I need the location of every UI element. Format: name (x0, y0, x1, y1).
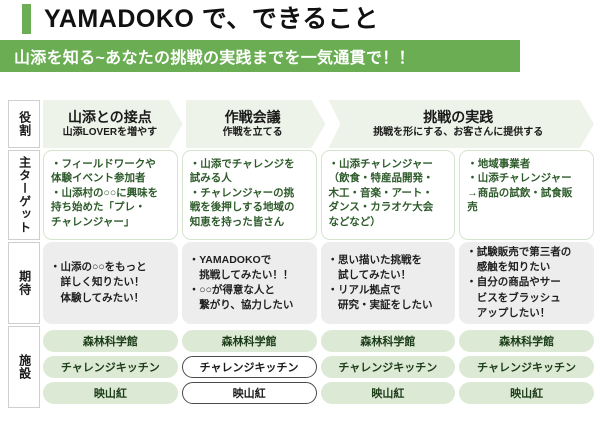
facility-cells: 森林科学館 チャレンジキッチン 映山紅 森林科学館 チャレンジキッチン 映山紅 … (43, 326, 594, 408)
role-chevron-2-title: 作戦会議 (225, 109, 281, 125)
row-label-role: 役割 (8, 100, 40, 148)
row-label-target-text: 主ターゲット (17, 156, 30, 234)
facility-pill-stack: 森林科学館 チャレンジキッチン 映山紅 (43, 326, 178, 408)
facility-pill[interactable]: チャレンジキッチン (321, 356, 456, 378)
role-chevron-3: 挑戦の実践 挑戦を形にする、お客さんに提供する (329, 100, 595, 148)
title-text: YAMADOKO で、できること (44, 7, 379, 32)
row-label-role-text: 役割 (17, 111, 30, 137)
target-cell-1: ・フィールドワークや 体験イベント参加者 ・山添村の○○に興味を 持ち始めた「プ… (43, 150, 178, 240)
facility-pill[interactable]: チャレンジキッチン (43, 356, 178, 378)
target-box: ・山添チャレンジャー （飲食・特産品開発・ 木工・音楽・アート・ ダンス・カラオ… (321, 150, 456, 240)
facility-pill-stack: 森林科学館 チャレンジキッチン 映山紅 (459, 326, 594, 408)
facility-pill[interactable]: 映山紅 (321, 382, 456, 404)
headline-banner-text: 山添を知る~あなたの挑戦の実践までを一気通貫で！！ (14, 44, 415, 68)
facility-pill[interactable]: チャレンジキッチン (459, 356, 594, 378)
expectation-cell-1: ・山添の○○をもっと 詳しく知りたい！ 体験してみたい！ (43, 242, 178, 324)
facility-cell-2: 森林科学館 チャレンジキッチン 映山紅 (182, 326, 317, 408)
target-cell-2: ・山添でチャレンジを 試みる人 ・チャレンジャーの挑 戦を後押しする地域の 知恵… (182, 150, 317, 240)
role-chevron-3-subtitle: 挑戦を形にする、お客さんに提供する (373, 127, 543, 139)
row-label-target: 主ターゲット (8, 150, 40, 240)
target-cells: ・フィールドワークや 体験イベント参加者 ・山添村の○○に興味を 持ち始めた「プ… (43, 150, 594, 240)
target-cell-3: ・山添チャレンジャー （飲食・特産品開発・ 木工・音楽・アート・ ダンス・カラオ… (321, 150, 456, 240)
facility-cell-1: 森林科学館 チャレンジキッチン 映山紅 (43, 326, 178, 408)
role-chevron-2: 作戦会議 作戦を立てる (186, 100, 326, 148)
expectation-box: ・山添の○○をもっと 詳しく知りたい！ 体験してみたい！ (43, 242, 178, 324)
role-chevron-1-subtitle: 山添LOVERを増やす (63, 127, 157, 139)
expectation-box: ・YAMADOKOで 挑戦してみたい！！ ・○○が得意な人と 繋がり、協力したい (182, 242, 317, 324)
facility-pill-stack: 森林科学館 チャレンジキッチン 映山紅 (321, 326, 456, 408)
facility-pill[interactable]: 森林科学館 (43, 330, 178, 352)
role-chevron-1-title: 山添との接点 (68, 109, 152, 125)
facility-pill[interactable]: チャレンジキッチン (182, 356, 317, 378)
facility-cell-3: 森林科学館 チャレンジキッチン 映山紅 (321, 326, 456, 408)
capability-matrix: 役割 山添との接点 山添LOVERを増やす 作戦会議 作戦を立てる 挑戦の実践 … (8, 100, 594, 410)
headline-banner: 山添を知る~あなたの挑戦の実践までを一気通貫で！！ (0, 40, 520, 72)
target-cell-4: ・地域事業者 ・山添チャレンジャー →商品の試飲・試食販 売 (459, 150, 594, 240)
facility-pill[interactable]: 映山紅 (459, 382, 594, 404)
matrix-row-facility: 施設 森林科学館 チャレンジキッチン 映山紅 森林科学館 チャレンジキッチン 映… (8, 326, 594, 408)
expectation-box: ・思い描いた挑戦を 試してみたい！ ・リアル拠点で 研究・実証をしたい (321, 242, 456, 324)
target-box: ・山添でチャレンジを 試みる人 ・チャレンジャーの挑 戦を後押しする地域の 知恵… (182, 150, 317, 240)
matrix-row-role: 役割 山添との接点 山添LOVERを増やす 作戦会議 作戦を立てる 挑戦の実践 … (8, 100, 594, 148)
row-label-facility-text: 施設 (17, 354, 30, 380)
role-chevron-1: 山添との接点 山添LOVERを増やす (43, 100, 183, 148)
facility-pill[interactable]: 映山紅 (182, 382, 317, 404)
facility-pill[interactable]: 森林科学館 (459, 330, 594, 352)
page-title: YAMADOKO で、できること (0, 0, 600, 34)
expectation-box: ・試験販売で第三者の 感触を知りたい ・自分の商品やサー ビスをブラッシュ アッ… (459, 242, 594, 324)
expectation-cells: ・山添の○○をもっと 詳しく知りたい！ 体験してみたい！ ・YAMADOKOで … (43, 242, 594, 324)
row-label-expectation-text: 期待 (17, 270, 30, 296)
target-box: ・地域事業者 ・山添チャレンジャー →商品の試飲・試食販 売 (459, 150, 594, 240)
target-box: ・フィールドワークや 体験イベント参加者 ・山添村の○○に興味を 持ち始めた「プ… (43, 150, 178, 240)
title-accent-bar (22, 4, 31, 34)
matrix-row-target: 主ターゲット ・フィールドワークや 体験イベント参加者 ・山添村の○○に興味を … (8, 150, 594, 240)
facility-pill[interactable]: 森林科学館 (182, 330, 317, 352)
row-label-facility: 施設 (8, 326, 40, 408)
role-chevron-3-title: 挑戦の実践 (423, 109, 493, 125)
facility-cell-4: 森林科学館 チャレンジキッチン 映山紅 (459, 326, 594, 408)
facility-pill[interactable]: 映山紅 (43, 382, 178, 404)
facility-pill-stack: 森林科学館 チャレンジキッチン 映山紅 (182, 326, 317, 408)
expectation-cell-3: ・思い描いた挑戦を 試してみたい！ ・リアル拠点で 研究・実証をしたい (321, 242, 456, 324)
expectation-cell-2: ・YAMADOKOで 挑戦してみたい！！ ・○○が得意な人と 繋がり、協力したい (182, 242, 317, 324)
row-label-expectation: 期待 (8, 242, 40, 324)
matrix-row-expectation: 期待 ・山添の○○をもっと 詳しく知りたい！ 体験してみたい！ ・YAMADOK… (8, 242, 594, 324)
facility-pill[interactable]: 森林科学館 (321, 330, 456, 352)
role-chevron-strip: 山添との接点 山添LOVERを増やす 作戦会議 作戦を立てる 挑戦の実践 挑戦を… (43, 100, 594, 148)
expectation-cell-4: ・試験販売で第三者の 感触を知りたい ・自分の商品やサー ビスをブラッシュ アッ… (459, 242, 594, 324)
role-chevron-2-subtitle: 作戦を立てる (223, 127, 283, 139)
